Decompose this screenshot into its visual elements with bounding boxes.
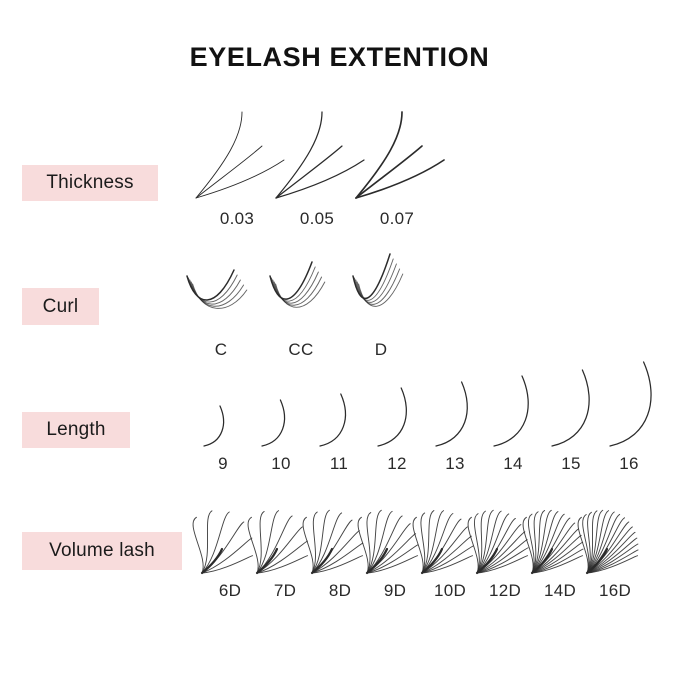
length-specimen-10-label: 10 <box>258 454 304 474</box>
row-thickness: Thickness 0.030.050.07 <box>0 110 679 240</box>
curl-specimen-D: D <box>338 250 424 360</box>
length-specimen-12-label: 12 <box>374 454 420 474</box>
length-specimen-16-label: 16 <box>606 454 652 474</box>
row-length: Length 910111213141516 <box>0 380 679 485</box>
length-specimen-9-label: 9 <box>200 454 246 474</box>
length-specimen-14: 14 <box>490 380 536 474</box>
category-label-length-text: Length <box>46 419 105 441</box>
length-specimen-12: 12 <box>374 380 420 474</box>
length-specimen-9: 9 <box>200 380 246 474</box>
category-label-volume-lash-text: Volume lash <box>49 540 155 562</box>
length-specimen-14-label: 14 <box>490 454 536 474</box>
category-label-thickness-text: Thickness <box>46 172 133 194</box>
length-specimen-10: 10 <box>258 380 304 474</box>
length-specimen-11-label: 11 <box>316 454 362 474</box>
thickness-specimen-0.07: 0.07 <box>348 110 446 229</box>
curl-specimen-C: C <box>178 250 264 360</box>
eyelash-extension-chart: EYELASH EXTENTION Thickness 0.030.050.07… <box>0 0 679 679</box>
curl-specimen-CC: CC <box>258 250 344 360</box>
category-label-curl: Curl <box>22 288 99 325</box>
curl-specimen-D-label: D <box>338 340 424 360</box>
row-volume-lash: Volume lash 6D7D8D9D10D12D14D16D <box>0 495 679 605</box>
curl-specimen-C-label: C <box>178 340 264 360</box>
category-label-length: Length <box>22 412 130 448</box>
volume-specimen-16D-label: 16D <box>581 581 649 601</box>
category-label-thickness: Thickness <box>22 165 158 201</box>
length-specimen-15-label: 15 <box>548 454 594 474</box>
length-specimen-16: 16 <box>606 380 652 474</box>
length-specimen-13: 13 <box>432 380 478 474</box>
category-label-volume-lash: Volume lash <box>22 532 182 570</box>
category-label-curl-text: Curl <box>43 296 79 318</box>
volume-specimen-16D: 16D <box>581 495 649 601</box>
length-specimen-13-label: 13 <box>432 454 478 474</box>
row-curl: Curl CCCD <box>0 250 679 360</box>
length-specimen-15: 15 <box>548 380 594 474</box>
page-title: EYELASH EXTENTION <box>0 42 679 73</box>
curl-specimen-CC-label: CC <box>258 340 344 360</box>
length-specimen-11: 11 <box>316 380 362 474</box>
thickness-specimen-0.07-label: 0.07 <box>348 209 446 229</box>
